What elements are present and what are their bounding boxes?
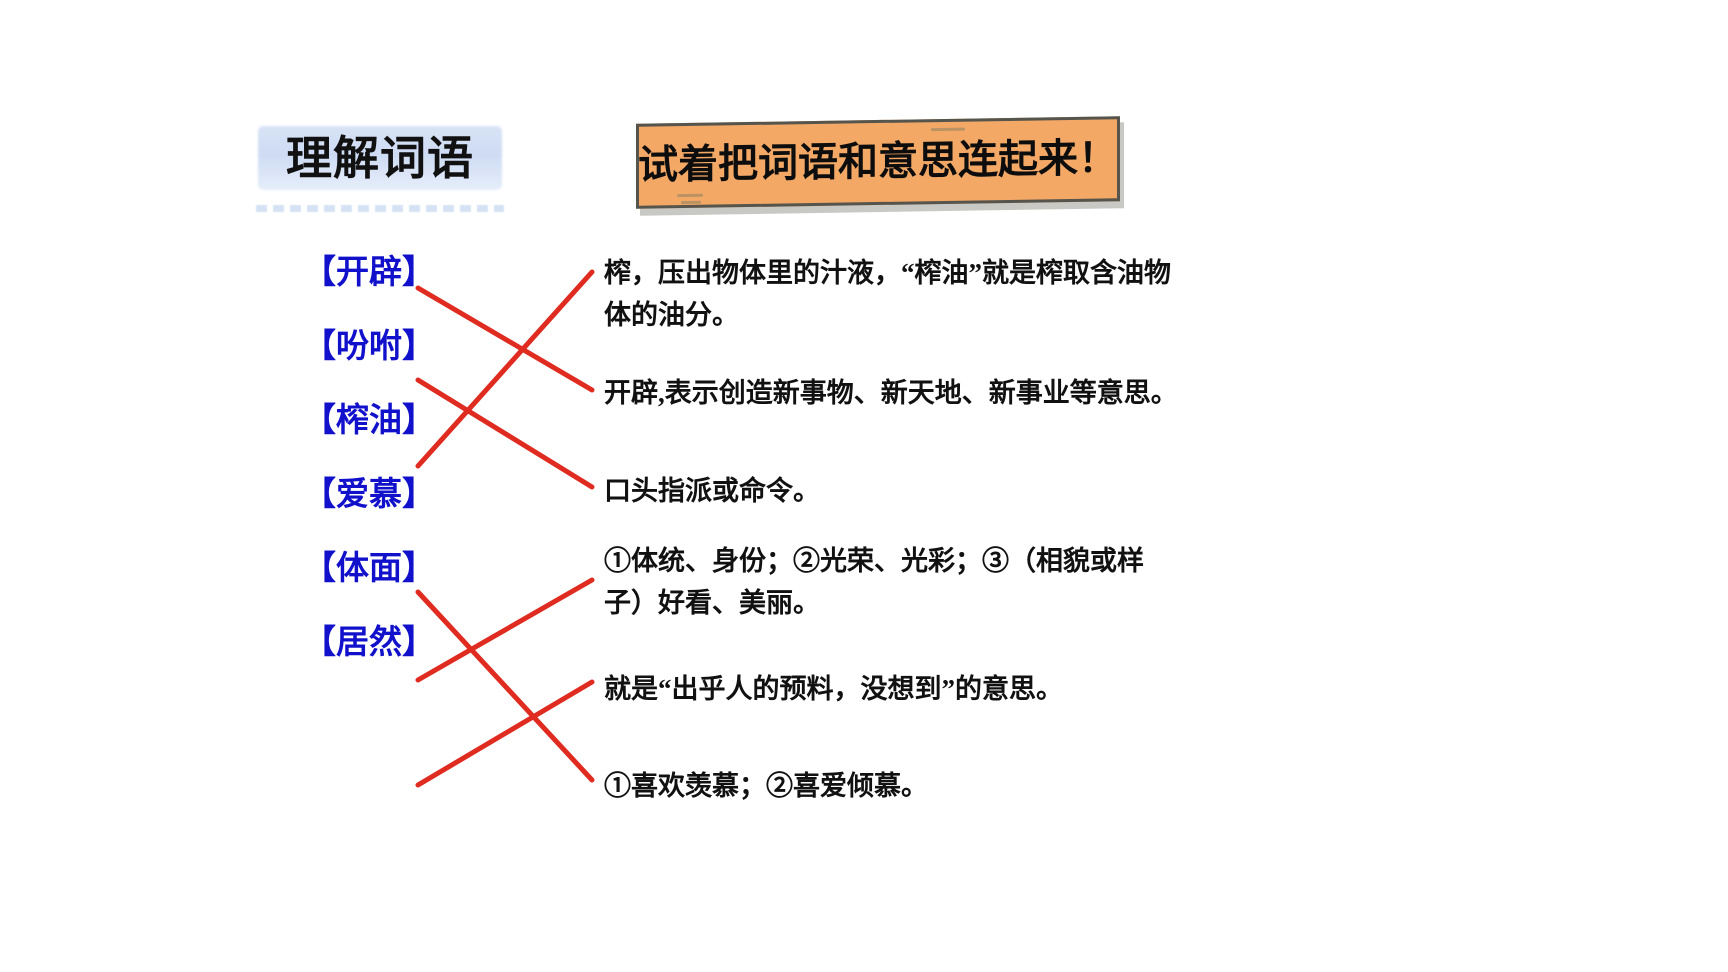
definition-line: 榨，压出物体里的汁液，“榨油”就是榨取含油物 (604, 252, 1171, 294)
connector-line (418, 682, 592, 785)
definition-line: ①喜欢羡慕；②喜爱倾慕。 (604, 765, 928, 807)
instruction-banner: 试着把词语和意思连起来！ (636, 120, 1126, 212)
word-item[interactable]: 【体面】 (303, 541, 435, 589)
definition-line: 子）好看、美丽。 (604, 582, 1144, 624)
connector-line (418, 592, 592, 780)
definition-line: ①体统、身份；②光荣、光彩；③（相貌或样 (604, 540, 1144, 582)
definition-line: 体的油分。 (604, 294, 1171, 336)
definition-item[interactable]: ①喜欢羡慕；②喜爱倾慕。 (604, 765, 928, 807)
word-item[interactable]: 【榨油】 (303, 393, 435, 441)
definition-line: 开辟,表示创造新事物、新天地、新事业等意思。 (604, 372, 1178, 414)
word-item[interactable]: 【吩咐】 (303, 319, 435, 367)
slide-canvas: 理解词语 试着把词语和意思连起来！ 【开辟】【吩咐】【榨油】【爱慕】【体面】【居… (0, 0, 1728, 972)
title-text: 理解词语 (258, 126, 502, 190)
word-item[interactable]: 【爱慕】 (303, 467, 435, 515)
title-dashed-underline (256, 205, 504, 212)
definition-item[interactable]: 就是“出乎人的预料，没想到”的意思。 (604, 668, 1063, 710)
definition-item[interactable]: 榨，压出物体里的汁液，“榨油”就是榨取含油物体的油分。 (604, 252, 1171, 336)
page-title: 理解词语 (258, 126, 502, 190)
connector-line (418, 272, 592, 466)
connector-line (418, 580, 592, 680)
definition-line: 就是“出乎人的预料，没想到”的意思。 (604, 668, 1063, 710)
connector-line (418, 380, 592, 487)
definition-item[interactable]: ①体统、身份；②光荣、光彩；③（相貌或样子）好看、美丽。 (604, 540, 1144, 624)
banner-text: 试着把词语和意思连起来！ (636, 116, 1120, 209)
definition-item[interactable]: 口头指派或命令。 (604, 470, 820, 512)
definition-item[interactable]: 开辟,表示创造新事物、新天地、新事业等意思。 (604, 372, 1178, 414)
connector-line (418, 288, 592, 390)
word-item[interactable]: 【开辟】 (303, 245, 435, 293)
word-item[interactable]: 【居然】 (303, 615, 435, 663)
definition-line: 口头指派或命令。 (604, 470, 820, 512)
